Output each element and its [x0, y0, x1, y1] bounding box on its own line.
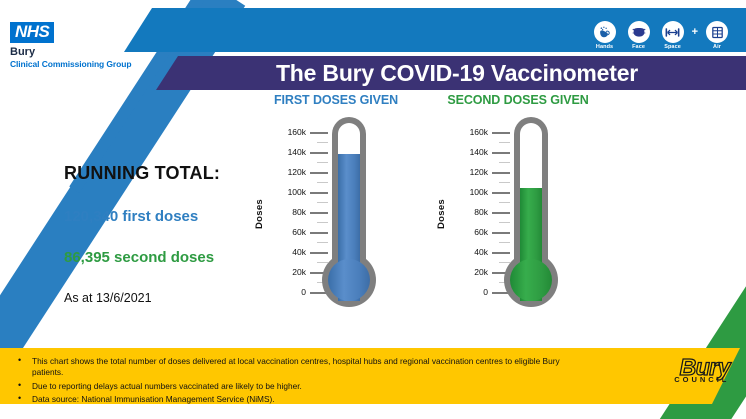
guidance-label-space: Space: [664, 44, 681, 50]
nhs-logo: NHS Bury Clinical Commissioning Group: [10, 22, 131, 69]
y-axis-tick-label: 20k: [448, 267, 488, 277]
bury-council-subtext: COUNCIL: [674, 375, 730, 384]
y-axis-tick-label: 140k: [448, 147, 488, 157]
y-axis-tick-label: 0: [448, 287, 488, 297]
footnote-item: Due to reporting delays actual numbers v…: [18, 381, 578, 392]
bulb-fill-second: [510, 259, 552, 301]
face-mask-icon: [628, 21, 650, 43]
as-at-date: As at 13/6/2021: [64, 291, 220, 305]
first-doses-total: 120,340 first doses: [64, 208, 220, 225]
running-totals-panel: RUNNING TOTAL: 120,340 first doses 86,39…: [64, 163, 220, 305]
y-axis-tick-label: 60k: [266, 227, 306, 237]
thermometer-body-first: Doses 020k40k60k80k100k120k140k160k: [256, 115, 416, 335]
guidance-plus-sign: +: [692, 26, 698, 38]
nhs-org-name: Bury: [10, 46, 131, 58]
y-axis-tick-label: 60k: [448, 227, 488, 237]
footnote-item: This chart shows the total number of dos…: [18, 356, 578, 379]
second-doses-total: 86,395 second doses: [64, 249, 220, 266]
footnote-item: Data source: National Immunisation Manag…: [18, 394, 578, 405]
guidance-label-hands: Hands: [596, 44, 613, 50]
space-distance-icon: [662, 21, 684, 43]
air-ventilation-icon: [706, 21, 728, 43]
bury-council-logo: Bury COUNCIL: [680, 355, 730, 384]
footnotes-bar: This chart shows the total number of dos…: [0, 348, 712, 404]
thermometer-title-first: FIRST DOSES GIVEN: [256, 93, 416, 107]
guidance-item-air: Air: [702, 21, 732, 50]
y-axis-tick-label: 0: [266, 287, 306, 297]
y-axis-tick-label: 100k: [266, 187, 306, 197]
running-total-heading: RUNNING TOTAL:: [64, 163, 220, 184]
y-axis-tick-label: 40k: [448, 247, 488, 257]
page-title: The Bury COVID-19 Vaccinometer: [178, 56, 746, 90]
thermometer-tube-first: [318, 115, 380, 328]
y-axis-tick-label: 160k: [266, 127, 306, 137]
nhs-org-subtitle: Clinical Commissioning Group: [10, 59, 131, 69]
guidance-item-hands: Hands: [590, 21, 620, 50]
thermometer-tube-second: [500, 115, 562, 328]
thermometer-body-second: Doses 020k40k60k80k100k120k140k160k: [438, 115, 598, 335]
covid-guidance-icons: Hands Face: [590, 21, 732, 50]
y-axis-tick-label: 80k: [448, 207, 488, 217]
thermometer-second-doses: SECOND DOSES GIVEN Doses 020k40k60k80k10…: [438, 93, 598, 335]
y-axis-tick-label: 120k: [266, 167, 306, 177]
header-purple-band: The Bury COVID-19 Vaccinometer: [178, 56, 746, 90]
thermometer-title-second: SECOND DOSES GIVEN: [438, 93, 598, 107]
y-axis-tick-label: 120k: [448, 167, 488, 177]
hands-icon: [594, 21, 616, 43]
y-axis-tick-label: 160k: [448, 127, 488, 137]
footnotes-list: This chart shows the total number of dos…: [0, 348, 712, 406]
guidance-label-air: Air: [713, 44, 721, 50]
thermometer-first-doses: FIRST DOSES GIVEN Doses 020k40k60k80k100…: [256, 93, 416, 335]
y-axis-tick-label: 20k: [266, 267, 306, 277]
header-blue-band: Hands Face: [152, 8, 746, 52]
guidance-item-space: Space: [658, 21, 688, 50]
y-axis-tick-label: 80k: [266, 207, 306, 217]
y-axis-tick-label: 100k: [448, 187, 488, 197]
guidance-item-face: Face: [624, 21, 654, 50]
guidance-label-face: Face: [632, 44, 645, 50]
bulb-fill-first: [328, 259, 370, 301]
nhs-logo-mark: NHS: [10, 22, 54, 43]
y-axis-tick-label: 140k: [266, 147, 306, 157]
infographic-canvas: Hands Face: [0, 0, 746, 419]
y-axis-tick-label: 40k: [266, 247, 306, 257]
